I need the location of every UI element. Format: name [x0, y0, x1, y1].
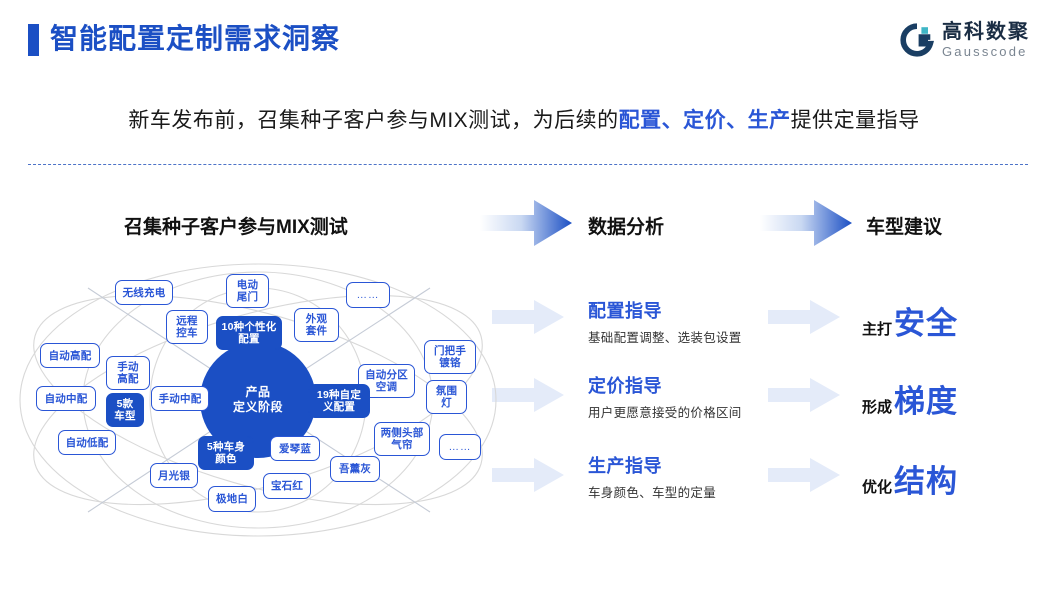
mindmap-node[interactable]: ……: [439, 434, 481, 460]
suggestion-prefix: 主打: [862, 318, 892, 339]
hub-line1: 产品: [245, 385, 270, 399]
mindmap: 产品 定义阶段 无线充电 电动尾门 …… 远程控车 10种个性化配置 外观套件 …: [18, 258, 498, 543]
suggestion-row-safety: 主打 安全: [862, 298, 958, 343]
gausscode-logo-icon: [900, 23, 934, 57]
mindmap-node[interactable]: 两侧头部气帘: [374, 422, 430, 456]
page-title: 智能配置定制需求洞察: [50, 20, 340, 58]
suggestion-prefix: 形成: [862, 396, 892, 417]
row-arrow-config-icon: [492, 300, 564, 334]
suggestion-keyword: 安全: [894, 298, 958, 343]
analysis-desc: 基础配置调整、选装包设置: [588, 327, 838, 346]
mindmap-node[interactable]: ……: [346, 282, 390, 308]
mindmap-node[interactable]: 自动高配: [40, 343, 100, 368]
subtitle-part2: 提供定量指导: [791, 109, 920, 132]
brand-name-cn: 高科数聚: [942, 22, 1030, 42]
suggestion-keyword: 梯度: [894, 376, 958, 421]
flow-arrow-2-icon: [760, 200, 852, 246]
row-arrow-pricing-icon: [492, 378, 564, 412]
analysis-desc: 用户更愿意接受的价格区间: [588, 402, 838, 421]
flow-arrow-1-icon: [480, 200, 572, 246]
mindmap-node[interactable]: 爱琴蓝: [270, 436, 320, 461]
mindmap-node[interactable]: 手动高配: [106, 356, 150, 390]
analysis-title: 定价指导: [588, 375, 838, 397]
brand-logo-text: 高科数聚 Gausscode: [942, 22, 1030, 58]
mindmap-node[interactable]: 电动尾门: [226, 274, 269, 308]
brand-logo: 高科数聚 Gausscode: [900, 22, 1030, 58]
mindmap-node[interactable]: 远程控车: [166, 310, 208, 344]
subtitle-part1: 新车发布前，召集种子客户参与MIX测试，为后续的: [128, 109, 618, 132]
suggestion-row-structure: 优化 结构: [862, 456, 958, 501]
subtitle-highlight: 配置、定价、生产: [619, 109, 791, 132]
section-divider: [28, 164, 1028, 165]
mindmap-node[interactable]: 5款车型: [106, 393, 144, 427]
suggestion-keyword: 结构: [894, 456, 958, 501]
mindmap-node[interactable]: 吾薰灰: [330, 456, 380, 482]
column-header-collect: 召集种子客户参与MIX测试: [124, 212, 348, 239]
analysis-row-production: 生产指导 车身颜色、车型的定量: [588, 455, 838, 501]
mindmap-node[interactable]: 极地白: [208, 486, 256, 512]
mindmap-node[interactable]: 19种自定义配置: [308, 384, 370, 418]
suggestion-row-tier: 形成 梯度: [862, 376, 958, 421]
analysis-title: 配置指导: [588, 300, 838, 322]
mindmap-node[interactable]: 门把手镀铬: [424, 340, 476, 374]
mindmap-node[interactable]: 宝石红: [263, 473, 311, 499]
subtitle: 新车发布前，召集种子客户参与MIX测试，为后续的配置、定价、生产提供定量指导: [0, 104, 1048, 134]
suggestion-prefix: 优化: [862, 476, 892, 497]
mindmap-node[interactable]: 自动中配: [36, 386, 96, 411]
brand-name-en: Gausscode: [942, 45, 1030, 58]
analysis-row-pricing: 定价指导 用户更愿意接受的价格区间: [588, 375, 838, 421]
row-arrow-production-icon: [492, 458, 564, 492]
mindmap-node[interactable]: 外观套件: [294, 308, 339, 342]
mindmap-node[interactable]: 氛围灯: [426, 380, 467, 414]
mindmap-node[interactable]: 手动中配: [151, 386, 209, 411]
mindmap-node[interactable]: 5种车身颜色: [198, 436, 254, 470]
mindmap-node[interactable]: 自动低配: [58, 430, 116, 455]
mindmap-node[interactable]: 月光银: [150, 463, 198, 488]
title-accent-bar: [28, 24, 39, 56]
analysis-desc: 车身颜色、车型的定量: [588, 482, 838, 501]
hub-line2: 定义阶段: [233, 400, 283, 414]
column-header-analysis: 数据分析: [588, 212, 664, 239]
mindmap-node[interactable]: 10种个性化配置: [216, 316, 282, 350]
slide-root: 智能配置定制需求洞察 高科数聚 Gausscode 新车发布前，召集种子客户参与…: [0, 0, 1048, 589]
column-header-suggestion: 车型建议: [866, 212, 942, 239]
analysis-title: 生产指导: [588, 455, 838, 477]
mindmap-node[interactable]: 无线充电: [115, 280, 173, 305]
analysis-row-config: 配置指导 基础配置调整、选装包设置: [588, 300, 838, 346]
